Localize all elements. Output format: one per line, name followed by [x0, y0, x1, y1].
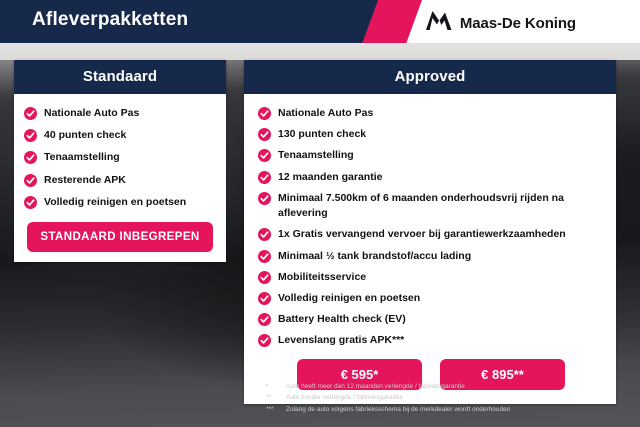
feature-label: 12 maanden garantie	[278, 170, 382, 185]
check-circle-icon	[258, 171, 271, 184]
list-item: 12 maanden garantie	[258, 170, 604, 185]
feature-label: Levenslang gratis APK***	[278, 333, 404, 348]
feature-list-standaard: Nationale Auto Pas 40 punten check Tenaa…	[24, 106, 216, 210]
list-item: Volledig reinigen en poetsen	[24, 195, 216, 210]
check-circle-icon	[24, 107, 37, 120]
list-item: Minimaal 7.500km of 6 maanden onderhouds…	[258, 191, 604, 221]
footnote-text: Zolang de auto volgens fabrieksschema bi…	[286, 404, 510, 415]
brand-logo: Maas-De Koning	[426, 11, 576, 36]
list-item: Levenslang gratis APK***	[258, 333, 604, 348]
check-circle-icon	[24, 196, 37, 209]
feature-label: 40 punten check	[44, 128, 126, 143]
check-circle-icon	[258, 149, 271, 162]
check-circle-icon	[258, 292, 271, 305]
brand-name: Maas-De Koning	[460, 15, 576, 32]
check-circle-icon	[258, 228, 271, 241]
list-item: Battery Health check (EV)	[258, 312, 604, 327]
card-title-approved: Approved	[244, 60, 616, 94]
footnote-marker: ***	[266, 404, 280, 415]
feature-label: Nationale Auto Pas	[44, 106, 139, 121]
footnote-text: Auto heeft meer dan 12 maanden verlengde…	[286, 381, 465, 392]
maas-de-koning-m-logo-icon	[426, 11, 452, 36]
feature-label: Tenaamstelling	[278, 148, 354, 163]
feature-label: Volledig reinigen en poetsen	[278, 291, 420, 306]
header-underline-strip	[0, 43, 640, 60]
footnote-marker: *	[266, 381, 280, 392]
card-title-standaard: Standaard	[14, 60, 226, 94]
check-circle-icon	[24, 174, 37, 187]
feature-label: Tenaamstelling	[44, 150, 120, 165]
feature-label: Volledig reinigen en poetsen	[44, 195, 186, 210]
package-card-approved: Approved Nationale Auto Pas 130 punten c…	[244, 60, 616, 404]
list-item: 40 punten check	[24, 128, 216, 143]
feature-label: Resterende APK	[44, 173, 126, 188]
list-item: Tenaamstelling	[24, 150, 216, 165]
feature-label: Minimaal ½ tank brandstof/accu lading	[278, 249, 471, 264]
check-circle-icon	[258, 192, 271, 205]
footnote-2: ** Auto zonder verlengde / fabrieksgaran…	[266, 392, 616, 403]
feature-label: Mobiliteitsservice	[278, 270, 366, 285]
feature-label: Battery Health check (EV)	[278, 312, 406, 327]
list-item: Volledig reinigen en poetsen	[258, 291, 604, 306]
footnote-1: * Auto heeft meer dan 12 maanden verleng…	[266, 381, 616, 392]
standaard-cta-wrap: STANDAARD INBEGREPEN	[24, 222, 216, 252]
check-circle-icon	[258, 107, 271, 120]
package-card-standaard: Standaard Nationale Auto Pas 40 punten c…	[14, 60, 226, 262]
feature-label: 130 punten check	[278, 127, 366, 142]
list-item: 130 punten check	[258, 127, 604, 142]
footnote-3: *** Zolang de auto volgens fabrieksschem…	[266, 404, 616, 415]
footnote-text: Auto zonder verlengde / fabrieksgarantie	[286, 392, 403, 403]
list-item: Tenaamstelling	[258, 148, 604, 163]
card-body-approved: Nationale Auto Pas 130 punten check Tena…	[244, 94, 616, 404]
card-body-standaard: Nationale Auto Pas 40 punten check Tenaa…	[14, 94, 226, 262]
packages-row: Standaard Nationale Auto Pas 40 punten c…	[0, 60, 640, 404]
feature-list-approved: Nationale Auto Pas 130 punten check Tena…	[258, 106, 604, 349]
list-item: Minimaal ½ tank brandstof/accu lading	[258, 249, 604, 264]
feature-label: Nationale Auto Pas	[278, 106, 373, 121]
standaard-inbegrepen-button[interactable]: STANDAARD INBEGREPEN	[27, 222, 213, 252]
footnote-block: * Auto heeft meer dan 12 maanden verleng…	[266, 381, 616, 415]
list-item: Mobiliteitsservice	[258, 270, 604, 285]
check-circle-icon	[258, 128, 271, 141]
feature-label: 1x Gratis vervangend vervoer bij garanti…	[278, 227, 566, 242]
check-circle-icon	[24, 151, 37, 164]
list-item: 1x Gratis vervangend vervoer bij garanti…	[258, 227, 604, 242]
check-circle-icon	[258, 250, 271, 263]
header-bar: Afleverpakketten Maas-De Koning	[0, 0, 640, 43]
list-item: Nationale Auto Pas	[24, 106, 216, 121]
check-circle-icon	[258, 271, 271, 284]
check-circle-icon	[24, 129, 37, 142]
list-item: Nationale Auto Pas	[258, 106, 604, 121]
footnote-marker: **	[266, 392, 280, 403]
check-circle-icon	[258, 334, 271, 347]
page-title: Afleverpakketten	[32, 9, 188, 31]
list-item: Resterende APK	[24, 173, 216, 188]
feature-label: Minimaal 7.500km of 6 maanden onderhouds…	[278, 191, 604, 221]
check-circle-icon	[258, 313, 271, 326]
slide-canvas: Afleverpakketten Maas-De Koning Standaar…	[0, 0, 640, 427]
